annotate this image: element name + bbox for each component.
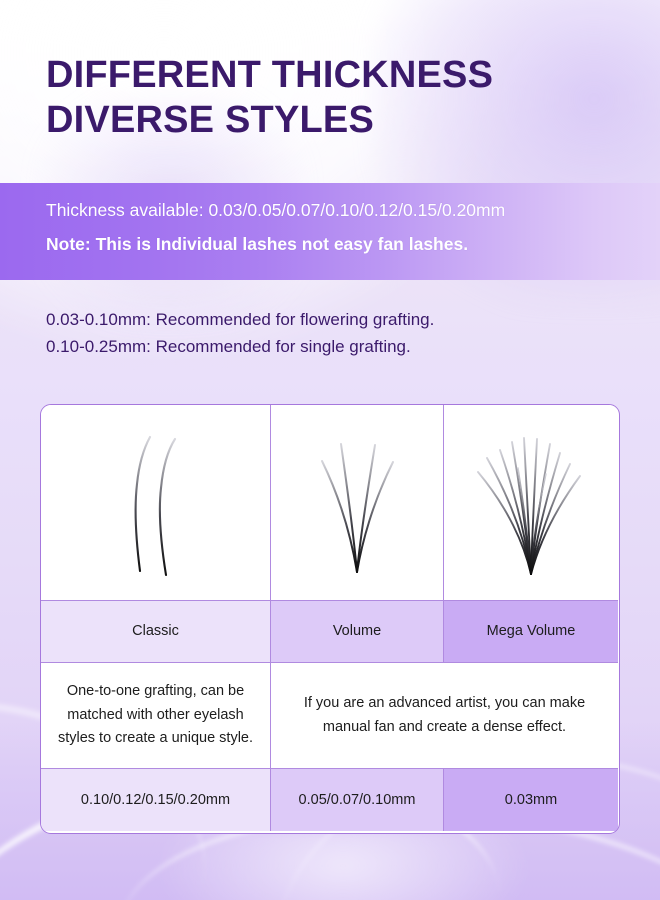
page-title: DIFFERENT THICKNESS DIVERSE STYLES — [46, 53, 606, 143]
thickness-banner-content: Thickness available: 0.03/0.05/0.07/0.10… — [46, 197, 640, 258]
description-volume-mega: If you are an advanced artist, you can m… — [271, 692, 618, 739]
thickness-volume: 0.05/0.07/0.10mm — [299, 791, 416, 810]
classic-lash-art-cell — [41, 405, 271, 601]
style-name-cell-volume: Volume — [271, 601, 444, 663]
mega-volume-fan-art-cell — [444, 405, 618, 601]
style-name-cell-classic: Classic — [41, 601, 271, 663]
thickness-cell-mega-volume: 0.03mm — [444, 769, 618, 831]
style-name-mega-volume: Mega Volume — [487, 622, 576, 641]
thickness-banner: Thickness available: 0.03/0.05/0.07/0.10… — [0, 183, 660, 280]
description-cell-classic: One-to-one grafting, can be matched with… — [41, 663, 271, 769]
banner-note-text: Note: This is Individual lashes not easy… — [46, 231, 640, 258]
table-row-descriptions: One-to-one grafting, can be matched with… — [41, 663, 619, 769]
classic-lash-art — [96, 428, 216, 578]
product-infographic: DIFFERENT THICKNESS DIVERSE STYLES Thick… — [0, 0, 660, 900]
table-row-style-names: Classic Volume Mega Volume — [41, 601, 619, 663]
thickness-available-text: Thickness available: 0.03/0.05/0.07/0.10… — [46, 197, 640, 223]
thickness-classic: 0.10/0.12/0.15/0.20mm — [81, 791, 230, 810]
volume-fan-art — [298, 428, 416, 578]
recommendation-line-1: 0.03-0.10mm: Recommended for flowering g… — [46, 307, 606, 334]
thickness-cell-classic: 0.10/0.12/0.15/0.20mm — [41, 769, 271, 831]
recommendation-text: 0.03-0.10mm: Recommended for flowering g… — [46, 307, 606, 361]
lash-style-comparison-table: Classic Volume Mega Volume One-to-one gr… — [40, 404, 620, 834]
style-name-cell-mega-volume: Mega Volume — [444, 601, 618, 663]
page-title-line-2: DIVERSE STYLES — [46, 98, 606, 143]
volume-fan-art-cell — [271, 405, 444, 601]
style-name-volume: Volume — [333, 622, 381, 641]
recommendation-line-2: 0.10-0.25mm: Recommended for single graf… — [46, 334, 606, 361]
description-classic: One-to-one grafting, can be matched with… — [41, 680, 270, 750]
mega-volume-fan-art — [466, 428, 596, 578]
table-row-images — [41, 405, 619, 601]
table-row-thickness: 0.10/0.12/0.15/0.20mm 0.05/0.07/0.10mm 0… — [41, 769, 619, 831]
thickness-cell-volume: 0.05/0.07/0.10mm — [271, 769, 444, 831]
style-name-classic: Classic — [132, 622, 179, 641]
thickness-mega-volume: 0.03mm — [505, 791, 557, 810]
description-cell-volume-mega: If you are an advanced artist, you can m… — [271, 663, 618, 769]
page-title-line-1: DIFFERENT THICKNESS — [46, 53, 606, 98]
